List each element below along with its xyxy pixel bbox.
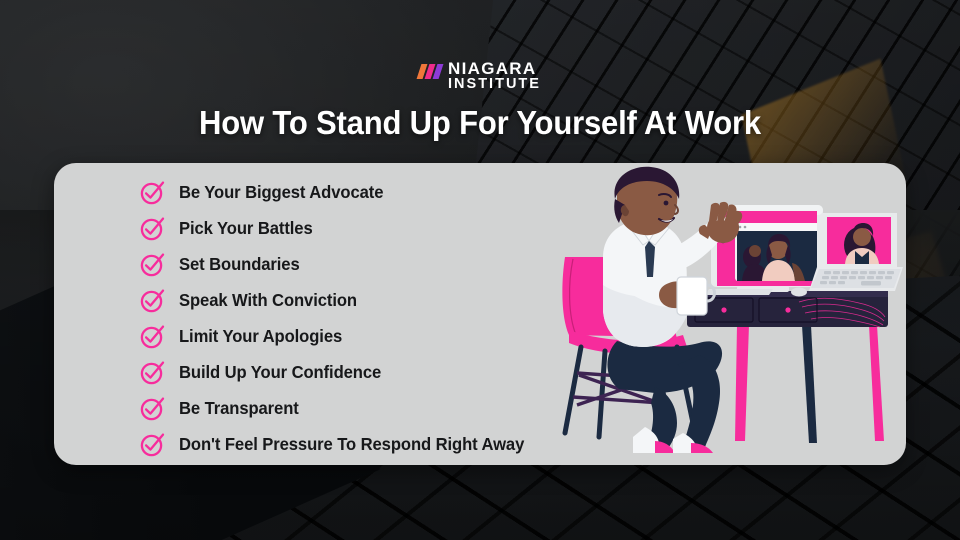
check-circle-icon bbox=[139, 359, 166, 386]
brand-logo: NIAGARA INSTITUTE bbox=[0, 60, 960, 92]
list-item-label: Set Boundaries bbox=[179, 254, 300, 275]
list-item: Pick Your Battles bbox=[139, 210, 619, 246]
list-item: Speak With Conviction bbox=[139, 282, 619, 318]
list-item-label: Pick Your Battles bbox=[179, 218, 313, 239]
check-circle-icon bbox=[139, 431, 166, 458]
check-circle-icon bbox=[139, 215, 166, 242]
list-item: Be Your Biggest Advocate bbox=[139, 174, 619, 210]
list-item-label: Be Your Biggest Advocate bbox=[179, 182, 383, 203]
list-item: Be Transparent bbox=[139, 390, 619, 426]
check-circle-icon bbox=[139, 251, 166, 278]
list-item: Set Boundaries bbox=[139, 246, 619, 282]
brand-name: NIAGARA INSTITUTE bbox=[448, 60, 541, 92]
check-circle-icon bbox=[139, 323, 166, 350]
content-card: Be Your Biggest Advocate Pick Your Battl… bbox=[54, 163, 906, 465]
list-item: Limit Your Apologies bbox=[139, 318, 619, 354]
checklist: Be Your Biggest Advocate Pick Your Battl… bbox=[139, 174, 619, 462]
check-circle-icon bbox=[139, 287, 166, 314]
brand-name-line2: INSTITUTE bbox=[448, 77, 541, 92]
list-item-label: Don't Feel Pressure To Respond Right Awa… bbox=[179, 434, 524, 455]
list-item-label: Be Transparent bbox=[179, 398, 299, 419]
list-item-label: Build Up Your Confidence bbox=[179, 362, 381, 383]
slide-canvas: NIAGARA INSTITUTE How To Stand Up For Yo… bbox=[0, 0, 960, 540]
check-circle-icon bbox=[139, 179, 166, 206]
page-title: How To Stand Up For Yourself At Work bbox=[29, 104, 931, 142]
person-at-desk-video-call-illustration bbox=[559, 165, 904, 455]
niagara-slashes-icon bbox=[419, 64, 441, 79]
list-item: Build Up Your Confidence bbox=[139, 354, 619, 390]
list-item-label: Limit Your Apologies bbox=[179, 326, 342, 347]
list-item-label: Speak With Conviction bbox=[179, 290, 357, 311]
brand-name-line1: NIAGARA bbox=[448, 60, 541, 77]
check-circle-icon bbox=[139, 395, 166, 422]
list-item: Don't Feel Pressure To Respond Right Awa… bbox=[139, 426, 619, 462]
